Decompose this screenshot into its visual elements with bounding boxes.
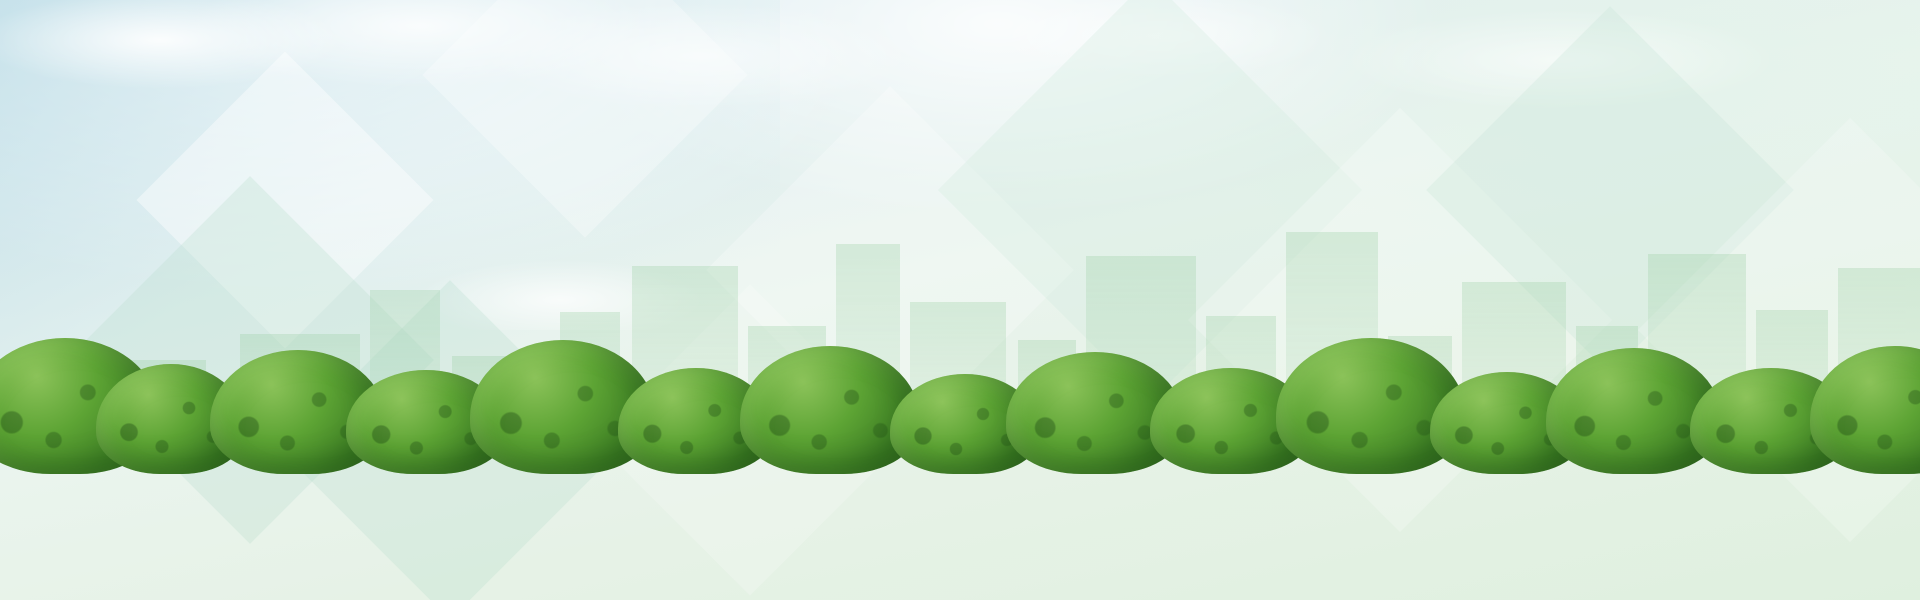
small-tree bbox=[170, 378, 228, 474]
eco-engineering-banner: 废气/废水/除尘处理工程 GAS / WASTEWATER / DUST REM… bbox=[0, 0, 1920, 600]
tree-line bbox=[0, 264, 1920, 474]
small-tree bbox=[680, 412, 720, 474]
